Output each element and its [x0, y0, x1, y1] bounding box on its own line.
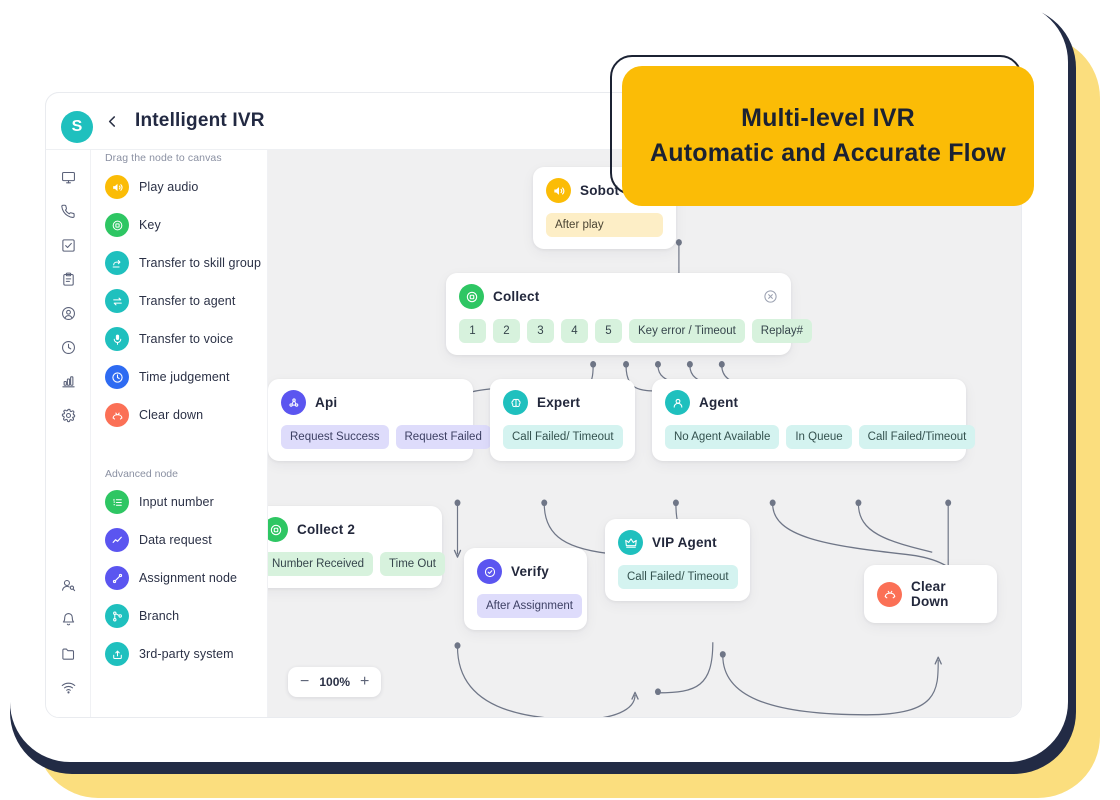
node-header: Agent: [665, 390, 953, 415]
node-tag[interactable]: 1: [459, 319, 486, 343]
palette-hint: Drag the node to canvas: [105, 152, 267, 164]
palette-item-label: Data request: [139, 533, 212, 547]
palette-item-transfer-to-voice[interactable]: Transfer to voice: [105, 327, 267, 351]
zoom-out-button[interactable]: −: [300, 674, 309, 690]
palette-item-3rd-party-system[interactable]: 3rd-party system: [105, 642, 237, 666]
node-tag[interactable]: 3: [527, 319, 554, 343]
callout-line-1: Multi-level IVR: [741, 104, 915, 133]
node-verify[interactable]: Verify After Assignment: [464, 548, 587, 630]
palette-item-assignment-node[interactable]: Assignment node: [105, 566, 237, 590]
node-header: Verify: [477, 559, 574, 584]
hangup-hand-icon: [877, 582, 902, 607]
palette-item-label: Input number: [139, 495, 214, 509]
user-circle-icon[interactable]: [52, 297, 84, 329]
node-tag[interactable]: Key error / Timeout: [629, 319, 745, 343]
advanced-node-section: Advanced node Input number Data request: [105, 468, 237, 680]
callout-banner: Multi-level IVR Automatic and Accurate F…: [622, 66, 1034, 206]
node-tag[interactable]: After Assignment: [477, 594, 582, 618]
keypad-icon: [459, 284, 484, 309]
clock-icon: [105, 365, 129, 389]
palette-item-label: Time judgement: [139, 370, 230, 384]
node-tag[interactable]: 2: [493, 319, 520, 343]
keypad-icon: [268, 517, 288, 542]
node-expert[interactable]: Expert Call Failed/ Timeout: [490, 379, 635, 461]
palette-item-play-audio[interactable]: Play audio: [105, 175, 267, 199]
node-tags: 1 2 3 4 5 Key error / Timeout Replay#: [459, 319, 778, 343]
crown-icon: [618, 530, 643, 555]
node-title: VIP Agent: [652, 535, 717, 550]
palette-item-branch[interactable]: Branch: [105, 604, 237, 628]
node-header: Expert: [503, 390, 622, 415]
palette-item-label: Transfer to voice: [139, 332, 233, 346]
list-number-icon: [105, 490, 129, 514]
pen-icon: [105, 566, 129, 590]
palette-item-label: Clear down: [139, 408, 203, 422]
node-title: Collect: [493, 289, 539, 304]
user-search-icon[interactable]: [52, 569, 84, 601]
close-circle-icon[interactable]: [763, 289, 778, 304]
node-palette: Drag the node to canvas Play audio Key T…: [91, 93, 268, 717]
swap-arrows-icon: [105, 289, 129, 313]
icon-rail: [46, 93, 91, 717]
node-tags: No Agent Available In Queue Call Failed/…: [665, 425, 953, 449]
node-tags: Number Received Time Out: [268, 552, 429, 576]
page-title: Intelligent IVR: [135, 110, 265, 132]
node-title: Clear Down: [911, 579, 984, 609]
node-tag[interactable]: Call Failed/Timeout: [859, 425, 976, 449]
bar-chart-icon[interactable]: [52, 365, 84, 397]
node-header: Clear Down: [877, 579, 984, 609]
speaker-icon: [105, 175, 129, 199]
gear-icon[interactable]: [52, 399, 84, 431]
palette-item-label: Branch: [139, 609, 179, 623]
node-tag[interactable]: Replay#: [752, 319, 812, 343]
node-tag[interactable]: In Queue: [786, 425, 851, 449]
node-tag[interactable]: 5: [595, 319, 622, 343]
node-title: Agent: [699, 395, 738, 410]
node-title: Api: [315, 395, 337, 410]
chevron-left-icon[interactable]: [104, 113, 121, 130]
palette-item-label: Transfer to skill group: [139, 256, 261, 270]
keypad-icon: [105, 213, 129, 237]
monitor-icon[interactable]: [52, 161, 84, 193]
speaker-icon: [546, 178, 571, 203]
palette-item-clear-down[interactable]: Clear down: [105, 403, 267, 427]
screenshot-root: Drag the node to canvas Play audio Key T…: [0, 0, 1120, 800]
node-tags: Request Success Request Failed: [281, 425, 460, 449]
zoom-in-button[interactable]: +: [360, 674, 369, 690]
palette-item-input-number[interactable]: Input number: [105, 490, 237, 514]
microphone-icon: [105, 327, 129, 351]
palette-item-label: Transfer to agent: [139, 294, 235, 308]
clipboard-icon[interactable]: [52, 263, 84, 295]
callout-line-2: Automatic and Accurate Flow: [650, 139, 1006, 168]
node-tag[interactable]: Request Success: [281, 425, 389, 449]
node-collect-2[interactable]: Collect 2 Number Received Time Out: [268, 506, 442, 588]
node-vip-agent[interactable]: VIP Agent Call Failed/ Timeout: [605, 519, 750, 601]
checkbox-icon[interactable]: [52, 229, 84, 261]
hand-group-icon: [105, 251, 129, 275]
node-tag[interactable]: Call Failed/ Timeout: [503, 425, 623, 449]
node-tags: After play: [546, 213, 663, 237]
node-header: VIP Agent: [618, 530, 737, 555]
node-header: Collect 2: [268, 517, 429, 542]
wifi-icon[interactable]: [52, 671, 84, 703]
node-header: Api: [281, 390, 460, 415]
api-icon: [281, 390, 306, 415]
hangup-hand-icon: [105, 403, 129, 427]
node-clear-down[interactable]: Clear Down: [864, 565, 997, 623]
badge-check-icon: [477, 559, 502, 584]
node-api[interactable]: Api Request Success Request Failed: [268, 379, 473, 461]
palette-item-label: Key: [139, 218, 161, 232]
palette-item-data-request[interactable]: Data request: [105, 528, 237, 552]
advanced-node-title: Advanced node: [105, 468, 237, 480]
brain-icon: [503, 390, 528, 415]
node-tags: After Assignment: [477, 594, 574, 618]
node-title: Expert: [537, 395, 580, 410]
node-title: Verify: [511, 564, 549, 579]
zoom-level-value: 100%: [319, 675, 350, 689]
node-tag[interactable]: Number Received: [268, 552, 373, 576]
node-collect[interactable]: Collect 1 2 3 4 5 Key error / Timeout Re…: [446, 273, 791, 355]
node-tag[interactable]: Call Failed/ Timeout: [618, 565, 738, 589]
user-icon: [665, 390, 690, 415]
palette-item-label: Assignment node: [139, 571, 237, 585]
node-tag[interactable]: After play: [546, 213, 663, 237]
node-tag[interactable]: 4: [561, 319, 588, 343]
chart-line-icon: [105, 528, 129, 552]
palette-item-key[interactable]: Key: [105, 213, 267, 237]
node-tags: Call Failed/ Timeout: [618, 565, 737, 589]
node-tag[interactable]: Time Out: [380, 552, 445, 576]
brand-logo[interactable]: S: [61, 111, 93, 143]
node-title: Collect 2: [297, 522, 355, 537]
palette-item-transfer-to-agent[interactable]: Transfer to agent: [105, 289, 267, 313]
palette-item-transfer-to-skill-group[interactable]: Transfer to skill group: [105, 251, 267, 275]
node-tag[interactable]: No Agent Available: [665, 425, 779, 449]
phone-icon[interactable]: [52, 195, 84, 227]
node-header: Collect: [459, 284, 778, 309]
zoom-control: − 100% +: [288, 667, 381, 697]
folder-icon[interactable]: [52, 637, 84, 669]
node-tags: Call Failed/ Timeout: [503, 425, 622, 449]
palette-item-label: Play audio: [139, 180, 198, 194]
node-agent[interactable]: Agent No Agent Available In Queue Call F…: [652, 379, 966, 461]
clock-icon[interactable]: [52, 331, 84, 363]
bell-icon[interactable]: [52, 603, 84, 635]
node-tag[interactable]: Request Failed: [396, 425, 491, 449]
upload-box-icon: [105, 642, 129, 666]
palette-item-label: 3rd-party system: [139, 647, 234, 661]
palette-item-time-judgement[interactable]: Time judgement: [105, 365, 267, 389]
branch-icon: [105, 604, 129, 628]
